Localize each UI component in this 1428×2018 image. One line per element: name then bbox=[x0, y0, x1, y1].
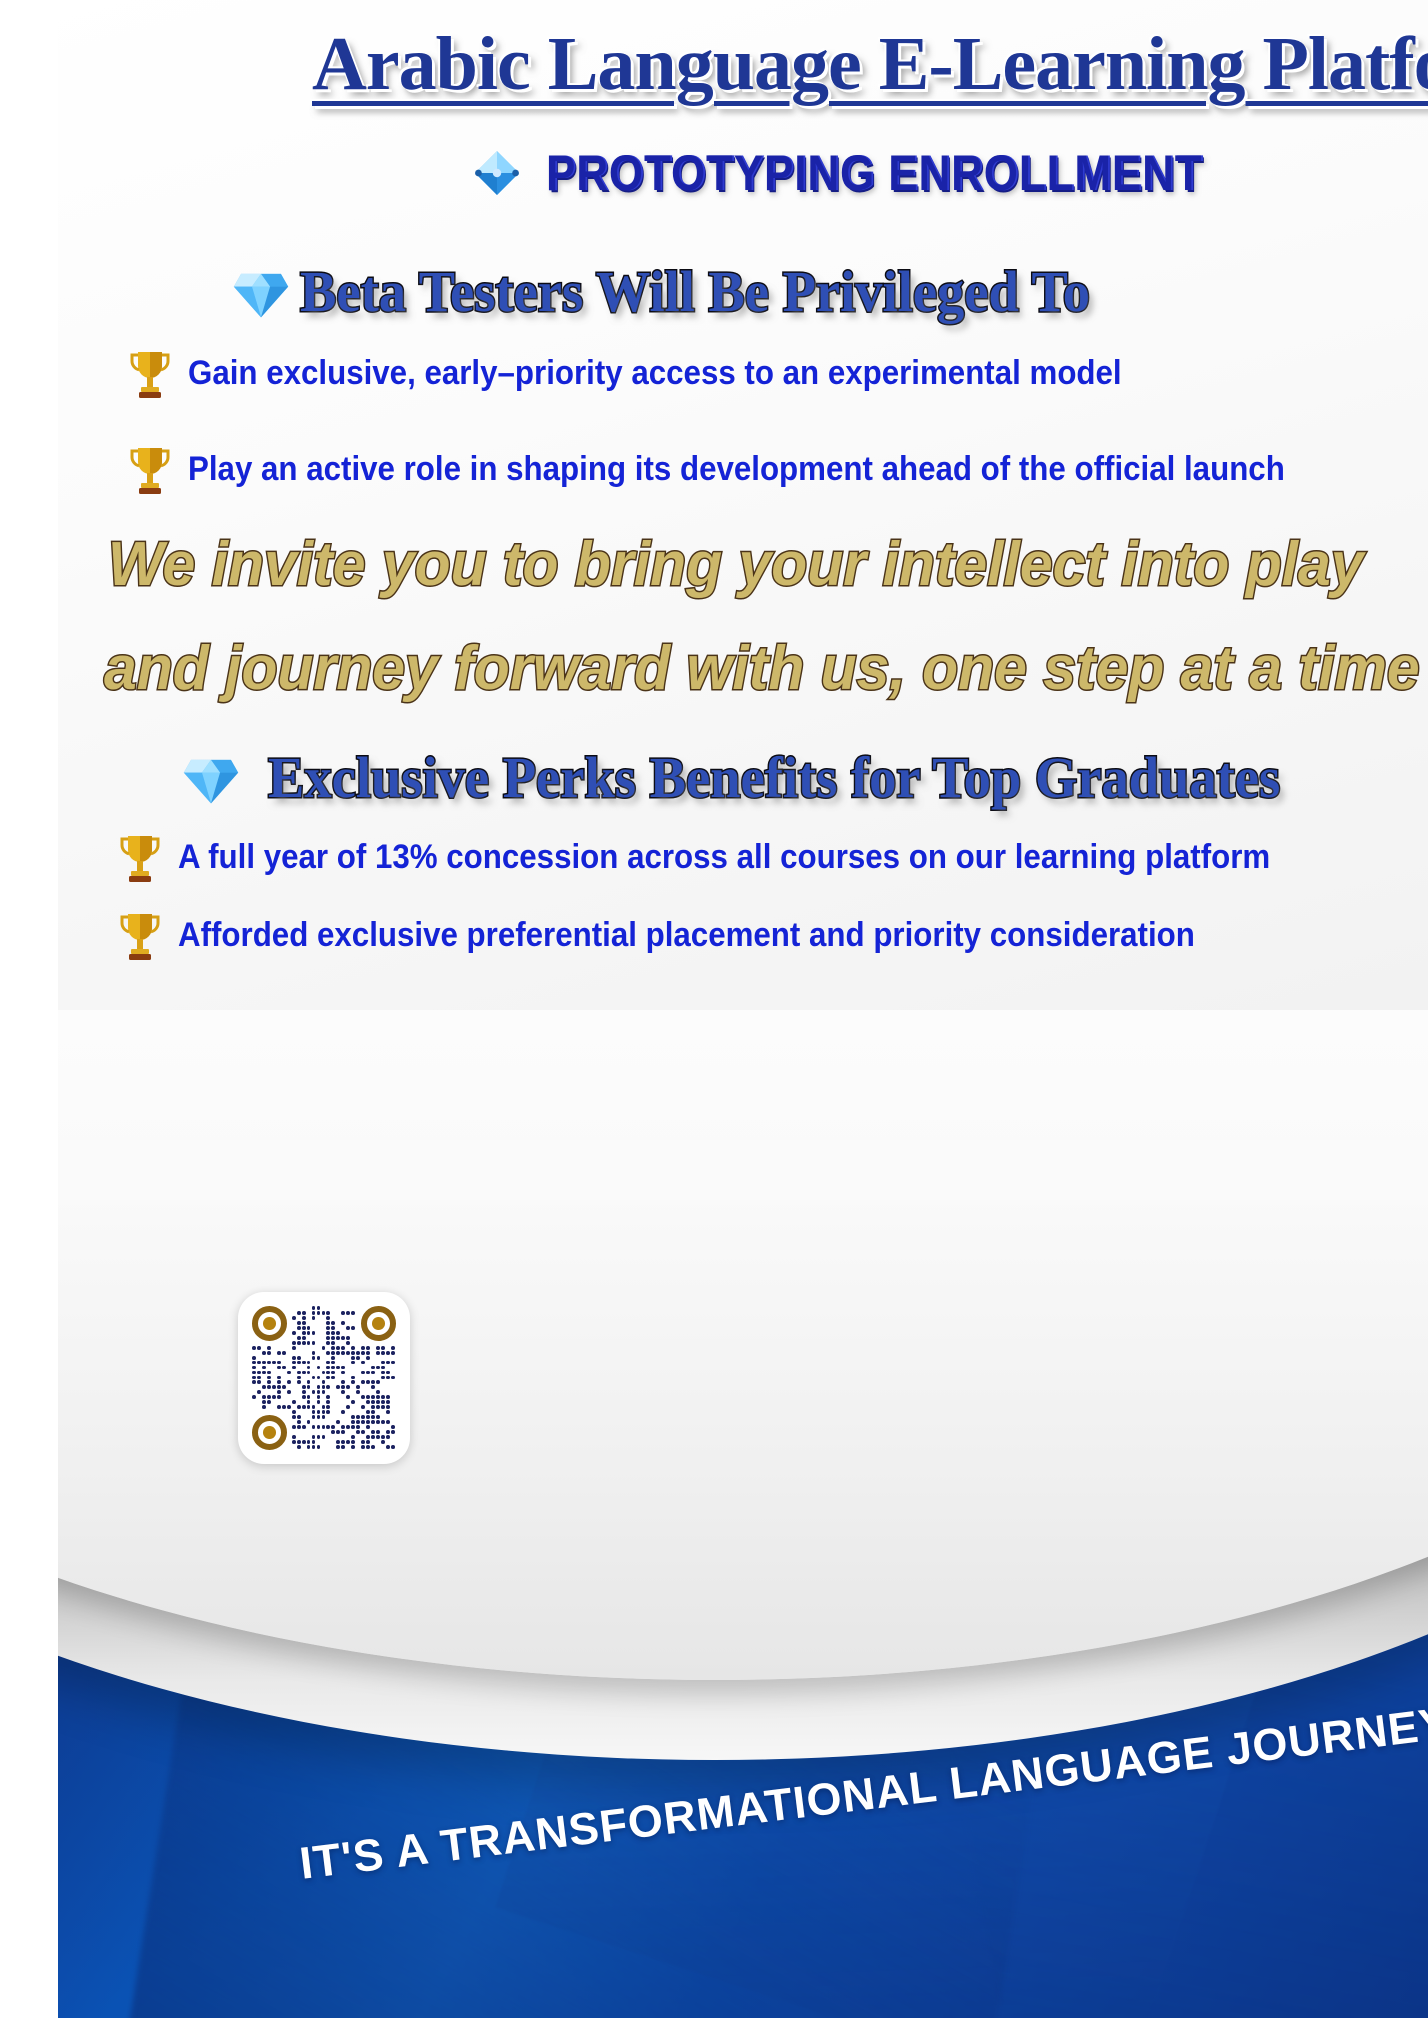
trophy-icon bbox=[128, 348, 172, 400]
page-title: Arabic Language E-Learning Platform bbox=[312, 26, 1428, 102]
prototyping-enrollment-heading: PROTOTYPING ENROLLMENT bbox=[470, 146, 1292, 200]
gem-icon bbox=[470, 146, 524, 200]
list-item: Afforded exclusive preferential placemen… bbox=[118, 910, 1283, 962]
beta-testers-heading-label: Beta Testers Will Be Privileged To bbox=[300, 262, 1090, 323]
invitation-line-2: and journey forward with us, one step at… bbox=[104, 638, 1420, 700]
list-item: Gain exclusive, early–priority access to… bbox=[128, 348, 1203, 400]
qr-code[interactable] bbox=[238, 1292, 410, 1464]
prototyping-enrollment-label: PROTOTYPING ENROLLMENT bbox=[546, 148, 1203, 198]
left-margin bbox=[0, 0, 58, 2018]
trophy-icon bbox=[118, 832, 162, 884]
invitation-line-1: We invite you to bring your intellect in… bbox=[108, 534, 1364, 596]
list-item-label: Play an active role in shaping its devel… bbox=[188, 451, 1285, 488]
list-item-label: Afforded exclusive preferential placemen… bbox=[178, 917, 1195, 954]
trophy-icon bbox=[118, 910, 162, 962]
list-item-label: A full year of 13% concession across all… bbox=[178, 839, 1270, 876]
gem-icon bbox=[182, 749, 240, 807]
list-item: Play an active role in shaping its devel… bbox=[128, 444, 1380, 496]
beta-testers-heading: Beta Testers Will Be Privileged To bbox=[232, 262, 1141, 323]
list-item-label: Gain exclusive, early–priority access to… bbox=[188, 355, 1122, 392]
trophy-icon bbox=[128, 444, 172, 496]
exclusive-perks-heading: Exclusive Perks Benefits for Top Graduat… bbox=[182, 748, 1345, 809]
list-item: A full year of 13% concession across all… bbox=[118, 832, 1365, 884]
poster-canvas: Arabic Language E-Learning Platform PROT… bbox=[0, 0, 1428, 2018]
qr-code-matrix bbox=[252, 1306, 396, 1450]
exclusive-perks-heading-label: Exclusive Perks Benefits for Top Graduat… bbox=[268, 748, 1280, 809]
gem-icon bbox=[232, 263, 290, 321]
